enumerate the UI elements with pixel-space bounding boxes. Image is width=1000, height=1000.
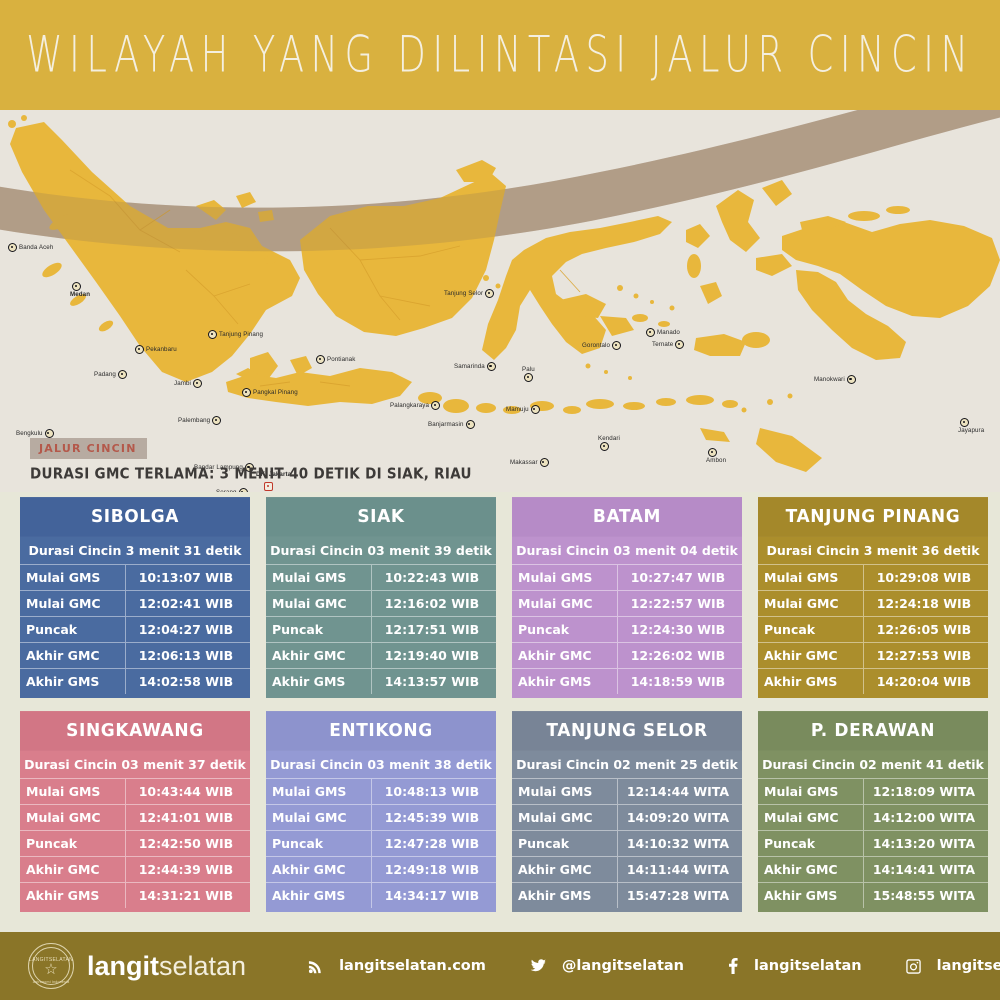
card-row-label: Mulai GMC [266,805,372,830]
card-row-value: 14:20:04 WIB [864,669,988,694]
card-row: Puncak12:17:51 WIB [266,616,496,642]
city-marker-icon [431,401,440,410]
card-row-label: Akhir GMC [758,857,864,882]
card-row-value: 12:14:44 WITA [618,779,742,804]
card-row-value: 10:13:07 WIB [126,565,250,590]
card-row-label: Puncak [512,831,618,856]
card-row-value: 14:14:41 WITA [864,857,988,882]
card-row-label: Akhir GMC [20,643,126,668]
card-duration: Durasi Cincin 03 menit 37 detik [20,750,250,778]
card-row: Mulai GMC12:22:57 WIB [512,590,742,616]
city-label: Ambon [706,448,726,464]
social-link-facebook[interactable]: langitselatan [728,958,862,974]
timing-card: TANJUNG SELORDurasi Cincin 02 menit 25 d… [512,712,742,912]
card-row-label: Puncak [266,831,372,856]
infographic-page: WILAYAH YANG DILINTASI JALUR CINCIN [0,0,1000,1000]
card-row-value: 10:22:43 WIB [372,565,496,590]
page-footer: LANGITSELATAN ☆ Astronomi Indonesia lang… [0,932,1000,1000]
city-marker-icon [466,420,475,429]
city-marker-icon [646,328,655,337]
card-row-value: 12:22:57 WIB [618,591,742,616]
facebook-icon [728,958,746,974]
card-row: Akhir GMC14:11:44 WITA [512,856,742,882]
card-row-value: 15:47:28 WITA [618,883,742,908]
city-label: Palangkaraya [390,401,442,410]
card-row-value: 12:27:53 WIB [864,643,988,668]
city-label: Manokwari [814,375,858,384]
city-marker-icon [540,458,549,467]
card-row: Akhir GMS14:31:21 WIB [20,882,250,908]
city-marker-icon [242,388,251,397]
capital-marker-icon [264,482,273,491]
city-marker-icon [524,373,533,382]
map-panel: Banda Aceh Medan Tanjung Pinang Pekanbar… [0,110,1000,492]
card-row: Puncak12:04:27 WIB [20,616,250,642]
card-row: Mulai GMS10:27:47 WIB [512,564,742,590]
social-link-instagram[interactable]: langitselatanmedia [906,958,1000,974]
card-grid: SIBOLGADurasi Cincin 3 menit 31 detikMul… [20,498,1000,912]
city-marker-icon [847,375,856,384]
card-row: Akhir GMS14:02:58 WIB [20,668,250,694]
card-row-label: Akhir GMS [266,669,372,694]
city-marker-icon [45,429,54,438]
card-row: Puncak14:13:20 WITA [758,830,988,856]
card-row: Akhir GMC14:14:41 WITA [758,856,988,882]
card-row-label: Akhir GMS [266,883,372,908]
card-row-value: 12:26:02 WIB [618,643,742,668]
card-row: Mulai GMC12:45:39 WIB [266,804,496,830]
card-row-value: 12:42:50 WIB [126,831,250,856]
card-title: TANJUNG SELOR [512,711,742,751]
city-label: Kendari [598,435,620,451]
card-duration: Durasi Cincin 03 menit 38 detik [266,750,496,778]
timing-card: P. DERAWANDurasi Cincin 02 menit 41 deti… [758,712,988,912]
brand-wordmark: langitselatan [87,953,246,980]
card-row-label: Mulai GMC [512,591,618,616]
city-label [262,482,275,491]
card-row-label: Akhir GMC [266,643,372,668]
timing-card: TANJUNG PINANGDurasi Cincin 3 menit 36 d… [758,498,988,698]
card-row-value: 12:18:09 WITA [864,779,988,804]
card-row-label: Mulai GMC [512,805,618,830]
city-marker-icon [239,488,248,492]
city-marker-icon [208,330,217,339]
card-row: Mulai GMC12:24:18 WIB [758,590,988,616]
instagram-icon [906,959,929,974]
card-row-value: 12:47:28 WIB [372,831,496,856]
card-row: Puncak12:24:30 WIB [512,616,742,642]
city-label: Pontianak [314,355,355,364]
card-row: Akhir GMC12:19:40 WIB [266,642,496,668]
card-row-label: Mulai GMC [20,805,126,830]
card-row: Mulai GMS10:43:44 WIB [20,778,250,804]
card-row: Mulai GMC12:16:02 WIB [266,590,496,616]
city-marker-icon [316,355,325,364]
city-marker-icon [193,379,202,388]
card-title: P. DERAWAN [758,711,988,751]
card-row-value: 12:16:02 WIB [372,591,496,616]
city-label: Banda Aceh [6,243,53,252]
social-link-label: langitselatanmedia [937,958,1000,974]
card-row-label: Akhir GMS [758,883,864,908]
city-marker-icon [135,345,144,354]
card-row-value: 10:48:13 WIB [372,779,496,804]
brand-light: selatan [159,951,246,981]
card-row-value: 14:13:57 WIB [372,669,496,694]
city-label: Pekanbaru [133,345,177,354]
card-row-label: Puncak [758,831,864,856]
card-title: SIAK [266,497,496,537]
city-timing-cards: SIBOLGADurasi Cincin 3 menit 31 detikMul… [0,498,1000,932]
card-row: Akhir GMS14:34:17 WIB [266,882,496,908]
card-row-label: Mulai GMS [20,779,126,804]
city-label: Tanjung Pinang [206,330,263,339]
city-label: Jayapura [958,418,984,434]
indonesia-map [0,110,1000,492]
card-row: Akhir GMS15:47:28 WITA [512,882,742,908]
card-row-label: Mulai GMS [266,565,372,590]
card-row-label: Akhir GMC [266,857,372,882]
card-title: BATAM [512,497,742,537]
card-row-label: Mulai GMS [758,565,864,590]
social-link-rss[interactable]: langitselatan.com [308,958,486,974]
card-row: Mulai GMC12:41:01 WIB [20,804,250,830]
card-row-label: Akhir GMS [512,669,618,694]
brand: LANGITSELATAN ☆ Astronomi Indonesia lang… [28,943,246,989]
timing-card: BATAMDurasi Cincin 03 menit 04 detikMula… [512,498,742,698]
card-title: ENTIKONG [266,711,496,751]
card-row-value: 10:29:08 WIB [864,565,988,590]
city-marker-icon [960,418,969,427]
page-title: WILAYAH YANG DILINTASI JALUR CINCIN [26,26,974,84]
card-row-label: Puncak [20,831,126,856]
card-row-label: Mulai GMS [20,565,126,590]
city-marker-icon [8,243,17,252]
card-row-value: 15:48:55 WITA [864,883,988,908]
city-label: Padang [94,370,129,379]
city-label: Makassar [510,458,551,467]
card-row-label: Puncak [512,617,618,642]
card-title: SIBOLGA [20,497,250,537]
card-row-label: Mulai GMC [758,805,864,830]
card-title: TANJUNG PINANG [758,497,988,537]
card-row-value: 14:18:59 WIB [618,669,742,694]
card-row-label: Mulai GMS [512,779,618,804]
city-marker-icon [612,341,621,350]
card-row-value: 12:19:40 WIB [372,643,496,668]
card-row-value: 12:44:39 WIB [126,857,250,882]
seal-glyph-icon: ☆ [29,962,73,977]
map-caption: DURASI GMC TERLAMA: 3 MENIT 40 DETIK DI … [30,465,472,483]
timing-card: ENTIKONGDurasi Cincin 03 menit 38 detikM… [266,712,496,912]
twitter-icon [530,959,554,973]
social-link-label: langitselatan [754,958,862,974]
card-row-label: Mulai GMS [758,779,864,804]
seal-subtext: Astronomi Indonesia [29,980,73,984]
city-label: Bengkulu [16,429,56,438]
social-link-label: langitselatan.com [339,958,486,974]
card-row: Puncak12:42:50 WIB [20,830,250,856]
legend-label: JALUR CINCIN [39,442,137,455]
card-row-value: 12:04:27 WIB [126,617,250,642]
card-duration: Durasi Cincin 3 menit 31 detik [20,536,250,564]
page-header: WILAYAH YANG DILINTASI JALUR CINCIN [0,0,1000,110]
brand-bold: langit [87,951,159,981]
city-label: Palembang [178,416,223,425]
city-label: Jambi [174,379,204,388]
card-row-label: Puncak [266,617,372,642]
card-row-value: 12:24:30 WIB [618,617,742,642]
city-marker-icon [675,340,684,349]
card-row: Mulai GMC14:09:20 WITA [512,804,742,830]
card-row-value: 14:12:00 WITA [864,805,988,830]
card-row-value: 14:13:20 WITA [864,831,988,856]
card-row: Akhir GMC12:27:53 WIB [758,642,988,668]
city-marker-icon [485,289,494,298]
card-row-value: 14:02:58 WIB [126,669,250,694]
city-marker-icon [531,405,540,414]
card-row: Akhir GMC12:49:18 WIB [266,856,496,882]
city-label: Samarinda [454,362,498,371]
social-link-label: @langitselatan [562,958,684,974]
card-row-value: 14:31:21 WIB [126,883,250,908]
card-row: Puncak12:26:05 WIB [758,616,988,642]
card-row-label: Akhir GMC [20,857,126,882]
city-label: Manado [644,328,680,337]
card-row-value: 12:17:51 WIB [372,617,496,642]
social-links: langitselatan.com@langitselatanlangitsel… [308,958,1000,974]
card-row: Mulai GMC14:12:00 WITA [758,804,988,830]
card-row: Akhir GMC12:06:13 WIB [20,642,250,668]
card-row-value: 14:09:20 WITA [618,805,742,830]
social-link-twitter[interactable]: @langitselatan [530,958,684,974]
card-row-value: 12:06:13 WIB [126,643,250,668]
card-row: Mulai GMS10:48:13 WIB [266,778,496,804]
card-row: Mulai GMS12:14:44 WITA [512,778,742,804]
card-row: Mulai GMS10:13:07 WIB [20,564,250,590]
card-row: Akhir GMC12:44:39 WIB [20,856,250,882]
city-label: Mamuju [506,405,542,414]
card-row-value: 12:26:05 WIB [864,617,988,642]
card-row-label: Mulai GMC [20,591,126,616]
card-row-value: 12:41:01 WIB [126,805,250,830]
city-label: Medan [70,282,90,298]
card-row: Mulai GMC12:02:41 WIB [20,590,250,616]
card-title: SINGKAWANG [20,711,250,751]
card-row: Akhir GMS15:48:55 WITA [758,882,988,908]
card-row-value: 14:34:17 WIB [372,883,496,908]
legend-jalur-cincin: JALUR CINCIN [30,438,147,459]
card-row-value: 12:02:41 WIB [126,591,250,616]
card-duration: Durasi Cincin 02 menit 41 detik [758,750,988,778]
card-row-label: Puncak [20,617,126,642]
card-duration: Durasi Cincin 03 menit 39 detik [266,536,496,564]
card-row-label: Akhir GMS [512,883,618,908]
card-row: Akhir GMC12:26:02 WIB [512,642,742,668]
card-row-label: Akhir GMS [758,669,864,694]
card-row-label: Puncak [758,617,864,642]
card-row-value: 12:24:18 WIB [864,591,988,616]
card-row-label: Mulai GMS [512,565,618,590]
card-row: Akhir GMS14:18:59 WIB [512,668,742,694]
card-row-label: Mulai GMC [758,591,864,616]
card-duration: Durasi Cincin 03 menit 04 detik [512,536,742,564]
city-label: Gorontalo [582,341,623,350]
card-row-value: 12:45:39 WIB [372,805,496,830]
card-row-value: 10:43:44 WIB [126,779,250,804]
card-row-label: Akhir GMS [20,669,126,694]
card-row-label: Akhir GMC [758,643,864,668]
rss-icon [308,959,331,974]
card-row-value: 10:27:47 WIB [618,565,742,590]
timing-card: SIAKDurasi Cincin 03 menit 39 detikMulai… [266,498,496,698]
card-row-label: Mulai GMS [266,779,372,804]
card-row-value: 14:11:44 WITA [618,857,742,882]
card-row-value: 12:49:18 WIB [372,857,496,882]
timing-card: SINGKAWANGDurasi Cincin 03 menit 37 deti… [20,712,250,912]
card-row: Akhir GMS14:20:04 WIB [758,668,988,694]
city-marker-icon [72,282,81,291]
card-row: Mulai GMS10:29:08 WIB [758,564,988,590]
card-row-label: Akhir GMC [512,857,618,882]
card-row: Mulai GMS12:18:09 WITA [758,778,988,804]
card-duration: Durasi Cincin 3 menit 36 detik [758,536,988,564]
city-label: Tanjung Selor [444,289,496,298]
city-label: Pangkal Pinang [240,388,298,397]
timing-card: SIBOLGADurasi Cincin 3 menit 31 detikMul… [20,498,250,698]
city-marker-icon [118,370,127,379]
card-row: Puncak14:10:32 WITA [512,830,742,856]
city-marker-icon [708,448,717,457]
landmass-group [8,115,1000,472]
card-row-label: Akhir GMC [512,643,618,668]
card-row: Mulai GMS10:22:43 WIB [266,564,496,590]
city-label: Ternate [652,340,686,349]
card-row: Akhir GMS14:13:57 WIB [266,668,496,694]
card-row-label: Akhir GMS [20,883,126,908]
city-marker-icon [487,362,496,371]
city-label: Serang [216,488,250,492]
langitselatan-seal-icon: LANGITSELATAN ☆ Astronomi Indonesia [28,943,74,989]
city-label: Palu [522,366,535,382]
card-duration: Durasi Cincin 02 menit 25 detik [512,750,742,778]
card-row-label: Mulai GMC [266,591,372,616]
city-marker-icon [600,442,609,451]
card-row-value: 14:10:32 WITA [618,831,742,856]
city-marker-icon [212,416,221,425]
city-label: Banjarmasin [428,420,477,429]
card-row: Puncak12:47:28 WIB [266,830,496,856]
